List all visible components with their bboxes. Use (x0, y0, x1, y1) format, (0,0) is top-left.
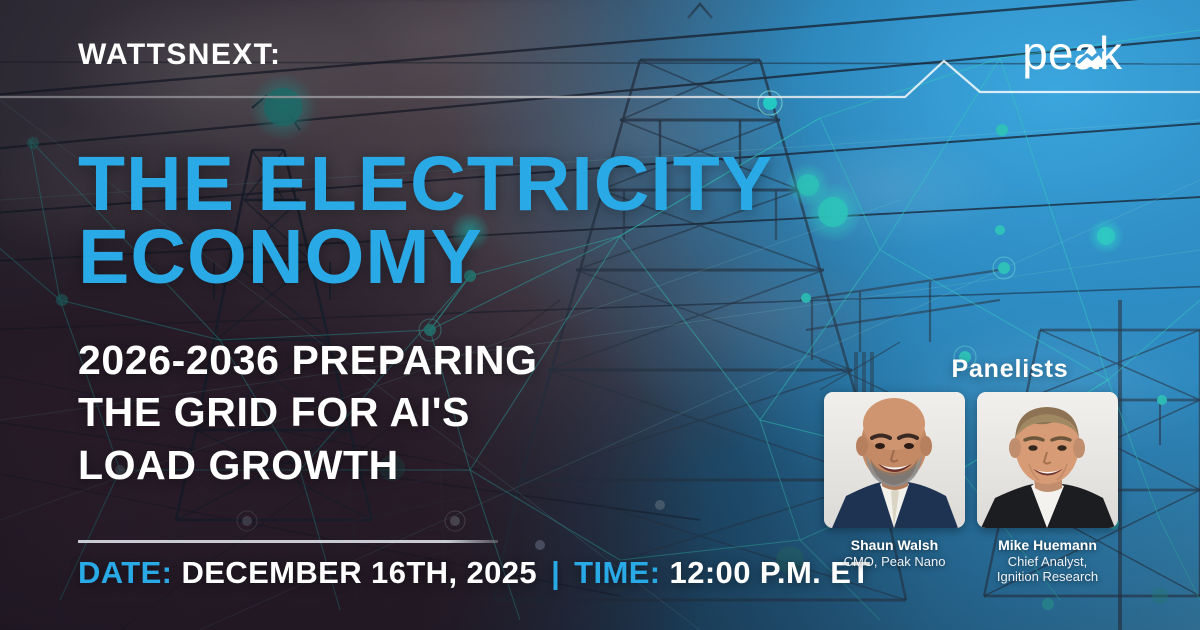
headshot-photo (977, 392, 1118, 528)
panelist-name: Shaun Walsh (824, 537, 965, 553)
page-title-line-2: ECONOMY (78, 221, 773, 294)
date-label: DATE: (78, 555, 172, 590)
panelist-role: Chief Analyst, Ignition Research (977, 554, 1118, 585)
panelist-role: CMO, Peak Nano (824, 554, 965, 569)
event-datetime: DATE: DECEMBER 16TH, 2025 | TIME: 12:00 … (78, 555, 871, 591)
peak-logo[interactable]: peak (1022, 30, 1122, 76)
kicker-text: WATTSNEXT: (78, 38, 281, 72)
panelist-card: Shaun Walsh CMO, Peak Nano (824, 392, 965, 585)
peak-mountain-bolt-icon (1074, 43, 1108, 74)
date-value: DECEMBER 16TH, 2025 (181, 555, 537, 590)
page-subtitle-line-1: 2026-2036 PREPARING (78, 334, 538, 386)
panelist-name: Mike Huemann (977, 537, 1118, 553)
date-divider (78, 540, 498, 543)
time-label: TIME: (574, 555, 660, 590)
panelist-role-line-1: Chief Analyst, (977, 554, 1118, 569)
webinar-promo-poster: WATTSNEXT: peak THE ELECTRICITY ECONOMY … (0, 0, 1200, 630)
panelists-heading: Panelists (952, 355, 1069, 384)
page-subtitle-line-3: LOAD GROWTH (78, 439, 538, 491)
panelist-card: Mike Huemann Chief Analyst, Ignition Res… (977, 392, 1118, 585)
panelist-role-line-2: Ignition Research (977, 569, 1118, 584)
panelist-role-line-1: CMO, Peak Nano (824, 554, 965, 569)
page-subtitle-line-2: THE GRID FOR AI'S (78, 386, 538, 438)
headshot-photo (824, 392, 965, 528)
datetime-separator: | (546, 555, 565, 590)
panelists-list: Shaun Walsh CMO, Peak Nano (824, 392, 1118, 585)
page-title: THE ELECTRICITY ECONOMY (78, 148, 773, 294)
page-subtitle: 2026-2036 PREPARING THE GRID FOR AI'S LO… (78, 334, 538, 491)
